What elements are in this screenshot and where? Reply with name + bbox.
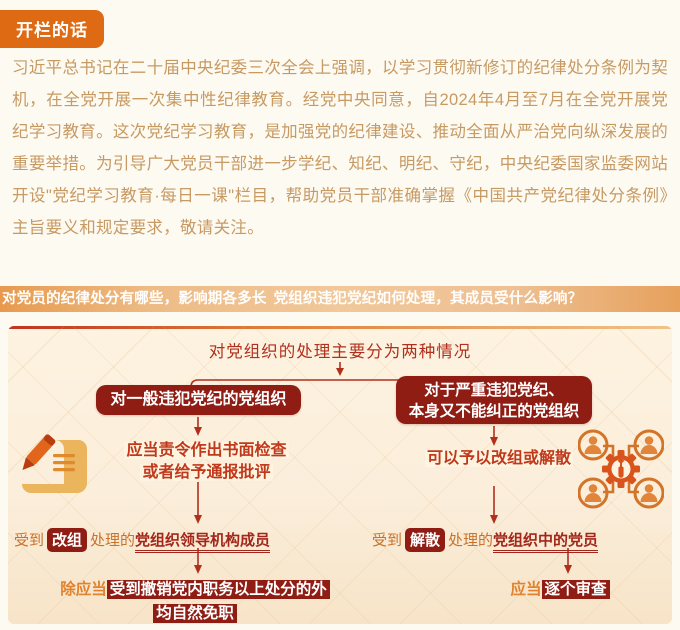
branch-action-left: 应当责令作出书面检查 或者给予通报批评 [104,440,309,484]
organization-gear-icon [578,428,664,510]
branch-action-left-line2: 或者给予通报批评 [140,464,272,481]
branch-action-right: 可以予以改组或解散 [408,448,590,470]
arrow-right-action [490,437,498,446]
final-conclusion-left: 除应当受到撤销党内职务以上处分的外 均自然免职 [55,578,335,626]
arrow-right-final [564,565,572,574]
branch-box-serious-violation: 对于严重违犯党纪、 本身又不能纠正的党组织 [396,376,592,424]
arrow-left-final [194,565,202,574]
banner-left-title: 对党员的纪律处分有哪些，影响期各多长 [2,291,267,307]
final-left-emphasis-line1: 受到撤销党内职务以上处分的外 [107,580,330,599]
final-left-prefix: 除应当 [60,581,107,598]
arrow-right-result [490,515,498,524]
result-left-chip: 改组 [47,528,87,552]
column-tag-wrapper: 开栏的话 [0,10,104,48]
branch-box-general-violation: 对一般违犯党纪的党组织 [96,385,301,415]
banner-right-title: 党组织违犯党纪如何处理，其成员受什么影响？ [274,291,583,307]
branch-box-serious-line2: 本身又不能纠正的党组织 [396,401,592,422]
branch-action-left-line1: 应当责令作出书面检查 [124,442,288,459]
result-right-prefix: 受到 [372,532,402,549]
result-line-left: 受到改组处理的党组织领导机构成员 [14,528,270,552]
final-right-emphasis-line1: 逐个审查 [542,580,610,599]
result-right-middle: 处理的 [448,532,493,549]
scroll-pencil-icon [12,432,96,504]
branch-box-serious-line1: 对于严重违犯党纪、 [396,380,592,401]
column-tag: 开栏的话 [0,10,104,48]
arrow-left-action [194,427,202,436]
result-left-prefix: 受到 [14,532,44,549]
branch-action-right-line1: 可以予以改组或解散 [425,450,573,467]
result-left-subject: 党组织领导机构成员 [135,532,270,553]
arrow-left-result [194,515,202,524]
final-right-prefix: 应当 [510,581,541,598]
arrow-title-stem [336,368,344,376]
result-line-right: 受到解散处理的党组织中的党员 [372,528,598,552]
section-banner: 对党员的纪律处分有哪些，影响期各多长党组织违犯党纪如何处理，其成员受什么影响？ [0,286,680,312]
result-right-chip: 解散 [405,528,445,552]
final-conclusion-right: 应当逐个审查 [460,578,660,602]
intro-paragraph: 习近平总书记在二十届中央纪委三次全会上强调，以学习贯彻新修订的纪律处分条例为契机… [12,52,668,244]
result-right-subject: 党组织中的党员 [493,532,598,553]
final-left-emphasis-line2: 均自然免职 [153,604,237,623]
result-left-middle: 处理的 [90,532,135,549]
